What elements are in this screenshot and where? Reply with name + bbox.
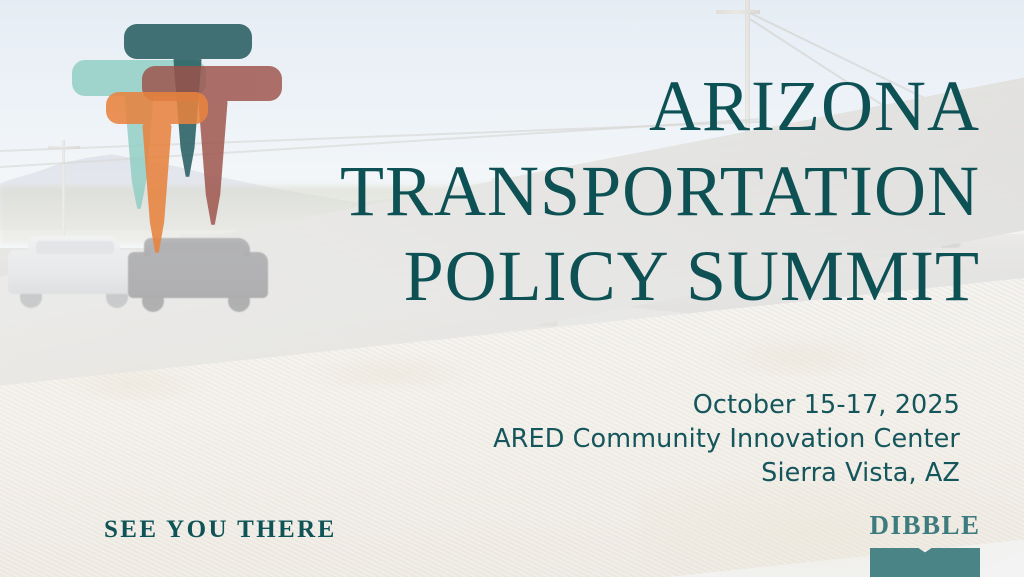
title-line-1: ARIZONA xyxy=(150,64,980,149)
t-pin-bar xyxy=(124,24,252,59)
title-line-2: TRANSPORTATION xyxy=(150,149,980,234)
dibble-wordmark: DIBBLE xyxy=(862,512,988,539)
dibble-logo: DIBBLE xyxy=(862,512,988,577)
event-date: October 15-17, 2025 xyxy=(320,388,960,422)
tagline: SEE YOU THERE xyxy=(104,516,337,544)
page-title: ARIZONA TRANSPORTATION POLICY SUMMIT xyxy=(150,64,980,319)
dibble-flag-mark xyxy=(870,548,980,577)
event-poster: ARIZONA TRANSPORTATION POLICY SUMMIT Oct… xyxy=(0,0,1024,577)
event-venue: ARED Community Innovation Center xyxy=(320,422,960,456)
event-details: October 15-17, 2025 ARED Community Innov… xyxy=(320,388,960,490)
title-line-3: POLICY SUMMIT xyxy=(150,234,980,319)
event-city: Sierra Vista, AZ xyxy=(320,456,960,490)
